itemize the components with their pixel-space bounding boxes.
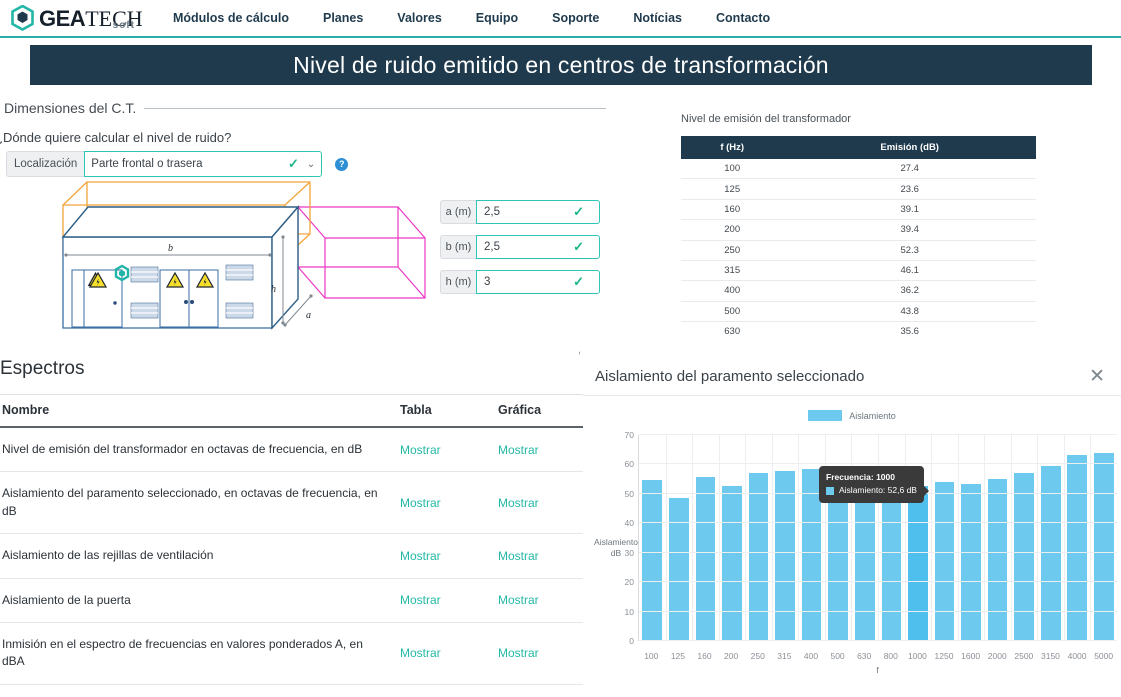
chart-bar[interactable] — [828, 482, 848, 641]
chart-bar[interactable] — [1094, 453, 1114, 641]
grid-line-vertical — [666, 435, 667, 641]
grid-line-vertical — [958, 435, 959, 641]
emission-cell-value: 39.4 — [783, 220, 1036, 240]
dimension-input-h[interactable]: 3 ✓ — [476, 270, 600, 294]
dimensions-panel: Dimensiones del C.T. ¿Dónde quiere calcu… — [0, 100, 620, 177]
location-select-value: Parte frontal o trasera — [91, 158, 288, 170]
show-chart-link[interactable]: Mostrar — [498, 496, 539, 510]
x-tick-label: 1600 — [957, 651, 984, 661]
table-row: Aislamiento del paramento seleccionado, … — [0, 472, 583, 534]
brand-name-bold: GEA — [39, 6, 85, 31]
espectros-table-body: Nivel de emisión del transformador en oc… — [0, 427, 583, 684]
chart-bar[interactable] — [696, 477, 716, 641]
ct-diagram-svg: b h a — [40, 175, 430, 340]
emission-cell-value: 23.6 — [783, 179, 1036, 199]
espectro-tabla-cell: Mostrar — [400, 622, 498, 684]
chart-tooltip: Frecuencia: 1000 Aislamiento: 52,6 dB — [819, 466, 924, 503]
espectros-table-head: Nombre Tabla Gráfica — [0, 395, 583, 428]
table-row: 25052.3 — [681, 240, 1036, 260]
table-row: 40036.2 — [681, 281, 1036, 301]
grid-line-vertical — [1011, 435, 1012, 641]
x-tick-label: 3150 — [1037, 651, 1064, 661]
x-tick-label: 630 — [851, 651, 878, 661]
x-tick-label: 250 — [744, 651, 771, 661]
espectro-tabla-cell: Mostrar — [400, 427, 498, 472]
chart-bar[interactable] — [669, 498, 689, 641]
check-icon: ✓ — [573, 204, 584, 220]
table-row: 10027.4 — [681, 159, 1036, 179]
y-tick-label: 0 — [608, 636, 634, 646]
chart-bar[interactable] — [935, 482, 955, 642]
show-chart-link[interactable]: Mostrar — [498, 593, 539, 607]
dimension-label-a: a — [306, 310, 311, 321]
table-row: 20039.4 — [681, 220, 1036, 240]
ct-3d-diagram: b h a — [40, 175, 430, 340]
dimension-value-a: 2,5 — [484, 206, 573, 218]
espectro-name: Aislamiento de las rejillas de ventilaci… — [0, 534, 400, 578]
dimension-inputs: a (m) 2,5 ✓ b (m) 2,5 ✓ h (m) 3 ✓ — [440, 200, 600, 305]
check-icon: ✓ — [573, 274, 584, 290]
nav-item-noticias[interactable]: Notícias — [633, 11, 682, 25]
x-tick-label: 1250 — [931, 651, 958, 661]
espectro-grafica-cell: Mostrar — [498, 472, 583, 534]
dimension-label-a: a (m) — [440, 200, 476, 224]
tooltip-value-row: Aislamiento: 52,6 dB — [826, 484, 917, 497]
emission-cell-frequency: 315 — [681, 260, 783, 280]
emission-col-frequency: f (Hz) — [681, 136, 783, 159]
dimension-input-b[interactable]: 2,5 ✓ — [476, 235, 600, 259]
y-tick-label: 60 — [608, 459, 634, 469]
emission-cell-frequency: 200 — [681, 220, 783, 240]
location-label: Localización — [6, 151, 84, 177]
x-tick-label: 2500 — [1011, 651, 1038, 661]
emission-cell-frequency: 630 — [681, 322, 783, 342]
emission-cell-value: 27.4 — [783, 159, 1036, 179]
y-tick-label: 10 — [608, 607, 634, 617]
check-icon: ✓ — [573, 239, 584, 255]
nav-item-planes[interactable]: Planes — [323, 11, 363, 25]
espectros-col-grafica: Gráfica — [498, 395, 583, 428]
nav-items: Módulos de cálculo Planes Valores Equipo… — [173, 11, 804, 25]
x-tick-label: 1000 — [904, 651, 931, 661]
espectros-panel: Espectros Nombre Tabla Gráfica Nivel de … — [0, 358, 583, 685]
emission-cell-frequency: 250 — [681, 240, 783, 260]
chart-bar[interactable] — [961, 484, 981, 641]
ct-building — [63, 207, 298, 328]
espectros-header-row: Nombre Tabla Gráfica — [0, 395, 583, 428]
emission-cell-value: 52.3 — [783, 240, 1036, 260]
dimension-value-b: 2,5 — [484, 241, 573, 253]
table-row: 31546.1 — [681, 260, 1036, 280]
show-table-link[interactable]: Mostrar — [400, 593, 441, 607]
legend-divider — [144, 108, 606, 109]
emission-cell-frequency: 500 — [681, 301, 783, 321]
dimension-label-h: h — [271, 284, 276, 295]
table-row: 16039.1 — [681, 199, 1036, 219]
dimension-input-a[interactable]: 2,5 ✓ — [476, 200, 600, 224]
espectro-name: Nivel de emisión del transformador en oc… — [0, 427, 400, 472]
chart-panel-header: Aislamiento del paramento seleccionado ✕ — [583, 358, 1121, 396]
chart-bar[interactable] — [775, 471, 795, 641]
espectro-name: Aislamiento de la puerta — [0, 578, 400, 622]
x-tick-label: 315 — [771, 651, 798, 661]
emission-table-caption: Nivel de emisión del transformador — [681, 113, 1036, 125]
chart-bar[interactable] — [1014, 473, 1034, 641]
table-row: 50043.8 — [681, 301, 1036, 321]
emission-cell-value: 35.6 — [783, 322, 1036, 342]
dimension-label-h: h (m) — [440, 270, 476, 294]
tooltip-value: Aislamiento: 52,6 dB — [839, 484, 917, 497]
show-table-link[interactable]: Mostrar — [400, 496, 441, 510]
chart-x-axis-title: f — [638, 665, 1117, 675]
chevron-down-icon[interactable]: ⌄ — [307, 159, 315, 170]
show-chart-link[interactable]: Mostrar — [498, 443, 539, 457]
magenta-volume — [298, 207, 425, 298]
x-tick-label: 400 — [798, 651, 825, 661]
hexagon-logo-icon — [10, 5, 35, 31]
table-row: Nivel de emisión del transformador en oc… — [0, 427, 583, 472]
table-row: Aislamiento de las rejillas de ventilaci… — [0, 534, 583, 578]
emission-table-panel: Nivel de emisión del transformador f (Hz… — [681, 113, 1036, 341]
emission-cell-value: 39.1 — [783, 199, 1036, 219]
chart-bar[interactable] — [855, 485, 875, 641]
legend-label-aislamiento: Aislamiento — [849, 411, 896, 421]
dimension-row-b: b (m) 2,5 ✓ — [440, 235, 600, 259]
x-tick-label: 4000 — [1064, 651, 1091, 661]
show-table-link[interactable]: Mostrar — [400, 646, 441, 660]
door-handle — [113, 301, 116, 304]
emission-cell-frequency: 125 — [681, 179, 783, 199]
chart-bar[interactable] — [882, 481, 902, 641]
y-tick-label: 20 — [608, 577, 634, 587]
chart-x-ticks: 1001251602002503154005006308001000125016… — [638, 651, 1117, 661]
emission-table-body: 10027.412523.616039.120039.425052.331546… — [681, 159, 1036, 341]
help-icon[interactable]: ? — [335, 158, 348, 171]
x-tick-label: 5000 — [1090, 651, 1117, 661]
nav-item-equipo[interactable]: Equipo — [476, 11, 518, 25]
grid-line-vertical — [719, 435, 720, 641]
chart-panel: Aislamiento del paramento seleccionado ✕… — [583, 358, 1121, 697]
table-row: Aislamiento de la puertaMostrarMostrar — [0, 578, 583, 622]
emission-col-value: Emisión (dB) — [783, 136, 1036, 159]
grid-line-vertical — [798, 435, 799, 641]
emission-cell-value: 43.8 — [783, 301, 1036, 321]
stray-text: , — [578, 344, 581, 356]
chart-bar[interactable] — [749, 473, 769, 641]
espectros-col-tabla: Tabla — [400, 395, 498, 428]
show-table-link[interactable]: Mostrar — [400, 443, 441, 457]
dimension-value-h: 3 — [484, 276, 573, 288]
espectro-grafica-cell: Mostrar — [498, 578, 583, 622]
show-chart-link[interactable]: Mostrar — [498, 549, 539, 563]
door-handle — [190, 300, 194, 304]
espectro-grafica-cell: Mostrar — [498, 622, 583, 684]
grid-line-vertical — [745, 435, 746, 641]
x-tick-label: 125 — [665, 651, 692, 661]
emission-table-head: f (Hz) Emisión (dB) — [681, 136, 1036, 159]
grid-line-vertical — [1064, 435, 1065, 641]
dimensions-legend: Dimensiones del C.T. — [0, 100, 620, 116]
x-tick-label: 500 — [824, 651, 851, 661]
chart-panel-title: Aislamiento del paramento seleccionado — [595, 368, 1089, 385]
espectros-col-nombre: Nombre — [0, 395, 400, 428]
y-tick-label: 50 — [608, 489, 634, 499]
dimension-label-b: b (m) — [440, 235, 476, 259]
espectro-tabla-cell: Mostrar — [400, 578, 498, 622]
espectro-tabla-cell: Mostrar — [400, 534, 498, 578]
dimension-row-a: a (m) 2,5 ✓ — [440, 200, 600, 224]
emission-table-scroll[interactable]: f (Hz) Emisión (dB) 10027.412523.616039.… — [681, 136, 1036, 341]
grid-line-vertical — [1090, 435, 1091, 641]
x-tick-label: 100 — [638, 651, 665, 661]
y-tick-label: 70 — [608, 430, 634, 440]
grid-line-vertical — [692, 435, 693, 641]
x-tick-label: 2000 — [984, 651, 1011, 661]
chart-legend[interactable]: Aislamiento — [583, 410, 1121, 421]
tooltip-swatch — [826, 487, 834, 495]
location-select[interactable]: Parte frontal o trasera ✓ ⌄ — [84, 151, 322, 177]
emission-cell-frequency: 100 — [681, 159, 783, 179]
y-tick-label: 30 — [608, 548, 634, 558]
emission-cell-frequency: 160 — [681, 199, 783, 219]
espectro-tabla-cell: Mostrar — [400, 472, 498, 534]
emission-cell-value: 36.2 — [783, 281, 1036, 301]
brand-logo[interactable]: GEATECH soft — [10, 5, 135, 31]
location-question: ¿Dónde quiere calcular el nivel de ruido… — [0, 130, 620, 145]
espectro-grafica-cell: Mostrar — [498, 427, 583, 472]
nav-item-soporte[interactable]: Soporte — [552, 11, 599, 25]
chart-plot: AislamientodB 010203040506070 1001251602… — [583, 429, 1121, 669]
nav-item-modulos[interactable]: Módulos de cálculo — [173, 11, 289, 25]
check-icon: ✓ — [288, 156, 299, 172]
x-tick-label: 200 — [718, 651, 745, 661]
brand-sub: soft — [113, 20, 135, 31]
location-field-row: Localización Parte frontal o trasera ✓ ⌄… — [6, 151, 620, 177]
table-row: 63035.6 — [681, 322, 1036, 342]
door-handle — [184, 300, 188, 304]
show-chart-link[interactable]: Mostrar — [498, 646, 539, 660]
dimensions-legend-label: Dimensiones del C.T. — [4, 100, 136, 116]
top-navbar: GEATECH soft Módulos de cálculo Planes V… — [0, 0, 1121, 38]
x-tick-label: 160 — [691, 651, 718, 661]
dimension-row-h: h (m) 3 ✓ — [440, 270, 600, 294]
x-tick-label: 800 — [877, 651, 904, 661]
espectro-name: Inmisión en el espectro de frecuencias e… — [0, 622, 400, 684]
emission-header-row: f (Hz) Emisión (dB) — [681, 136, 1036, 159]
chart-bar[interactable] — [1067, 455, 1087, 641]
espectros-table: Nombre Tabla Gráfica Nivel de emisión de… — [0, 394, 583, 685]
page-title: Nivel de ruido emitido en centros de tra… — [30, 45, 1092, 85]
grid-line-vertical — [931, 435, 932, 641]
table-row: 12523.6 — [681, 179, 1036, 199]
nav-item-valores[interactable]: Valores — [397, 11, 441, 25]
grid-line-vertical — [772, 435, 773, 641]
grid-line-vertical — [984, 435, 985, 641]
emission-cell-frequency: 400 — [681, 281, 783, 301]
nav-item-contacto[interactable]: Contacto — [716, 11, 770, 25]
dimension-label-b: b — [168, 243, 173, 254]
table-row: Inmisión en el espectro de frecuencias e… — [0, 622, 583, 684]
grid-line-vertical — [1037, 435, 1038, 641]
show-table-link[interactable]: Mostrar — [400, 549, 441, 563]
chart-bar[interactable] — [722, 486, 742, 641]
close-icon[interactable]: ✕ — [1089, 367, 1105, 386]
espectros-heading: Espectros — [0, 358, 583, 380]
tooltip-frequency: Frecuencia: 1000 — [826, 471, 917, 484]
y-tick-label: 40 — [608, 518, 634, 528]
espectro-grafica-cell: Mostrar — [498, 534, 583, 578]
chart-bar[interactable] — [642, 480, 662, 641]
espectro-name: Aislamiento del paramento seleccionado, … — [0, 472, 400, 534]
chart-bar[interactable] — [908, 486, 928, 641]
chart-bar[interactable] — [988, 479, 1008, 641]
emission-cell-value: 46.1 — [783, 260, 1036, 280]
legend-swatch-aislamiento — [808, 410, 842, 421]
emission-table: f (Hz) Emisión (dB) 10027.412523.616039.… — [681, 136, 1036, 341]
